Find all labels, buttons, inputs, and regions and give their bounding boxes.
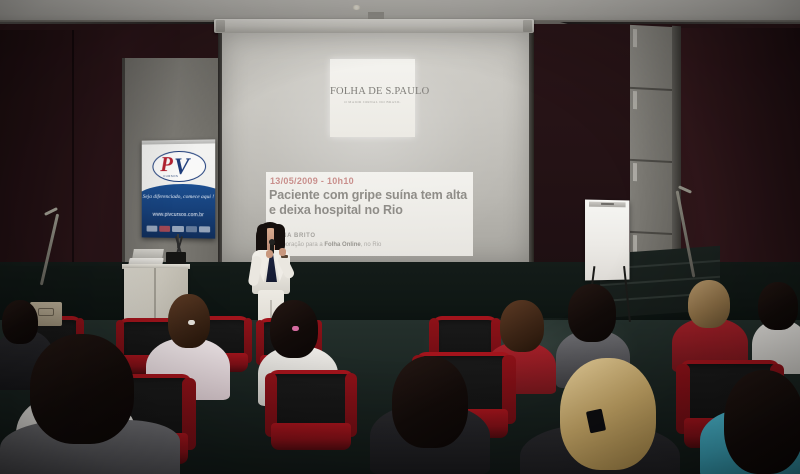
screen-right-rail xyxy=(529,33,534,265)
publication-logo-text: FOLHA DE S.PAULO xyxy=(330,86,415,97)
banner-slogan: Seja diferenciado, comece aqui ! xyxy=(142,194,215,201)
presenter-hand-left xyxy=(266,250,273,258)
publication-tagline: O MAIOR JORNAL DO BRASIL xyxy=(330,100,415,104)
audience-head xyxy=(392,356,468,448)
presenter-hand-right xyxy=(279,248,286,256)
equipment-box xyxy=(166,252,186,264)
audience-head xyxy=(2,300,38,344)
chair xyxy=(268,370,354,450)
projection-screen-housing xyxy=(214,19,534,33)
article-datestamp: 13/05/2009 - 10h10 xyxy=(270,176,354,186)
publication-logo-card: FOLHA DE S.PAULO O MAIOR JORNAL DO BRASI… xyxy=(330,59,415,137)
banner-website-url: www.pivcursos.com.br xyxy=(142,212,215,219)
article-headline: Paciente com gripe suína tem alta e deix… xyxy=(269,188,469,218)
audience-head xyxy=(724,370,800,474)
housing-cap-right xyxy=(523,20,532,32)
hair-tie xyxy=(292,326,299,331)
presenter-hair-strand-left xyxy=(257,224,267,251)
audience-head xyxy=(560,358,656,470)
housing-cap-left xyxy=(216,20,225,32)
rollup-banner: P V CURSOS Seja diferenciado, comece aqu… xyxy=(142,139,215,238)
banner-partner-logos xyxy=(147,225,211,233)
banner-logo-letter-p: P xyxy=(160,153,173,175)
banner-logo-subtext: CURSOS xyxy=(163,174,178,178)
hair-tie xyxy=(188,320,195,325)
audience-head xyxy=(568,284,616,342)
photo-scene: FOLHA DE S.PAULO O MAIOR JORNAL DO BRASI… xyxy=(0,0,800,474)
audience-head xyxy=(500,300,544,352)
audience-head xyxy=(30,334,134,444)
audience-head xyxy=(688,280,730,328)
credit-suffix: , no Rio xyxy=(361,242,382,248)
flipchart-clip xyxy=(589,202,626,208)
ceiling-downlight xyxy=(352,5,361,10)
credit-outlet: Folha Online xyxy=(324,242,360,248)
audience-head xyxy=(758,282,798,330)
banner-top-rail xyxy=(142,139,215,144)
